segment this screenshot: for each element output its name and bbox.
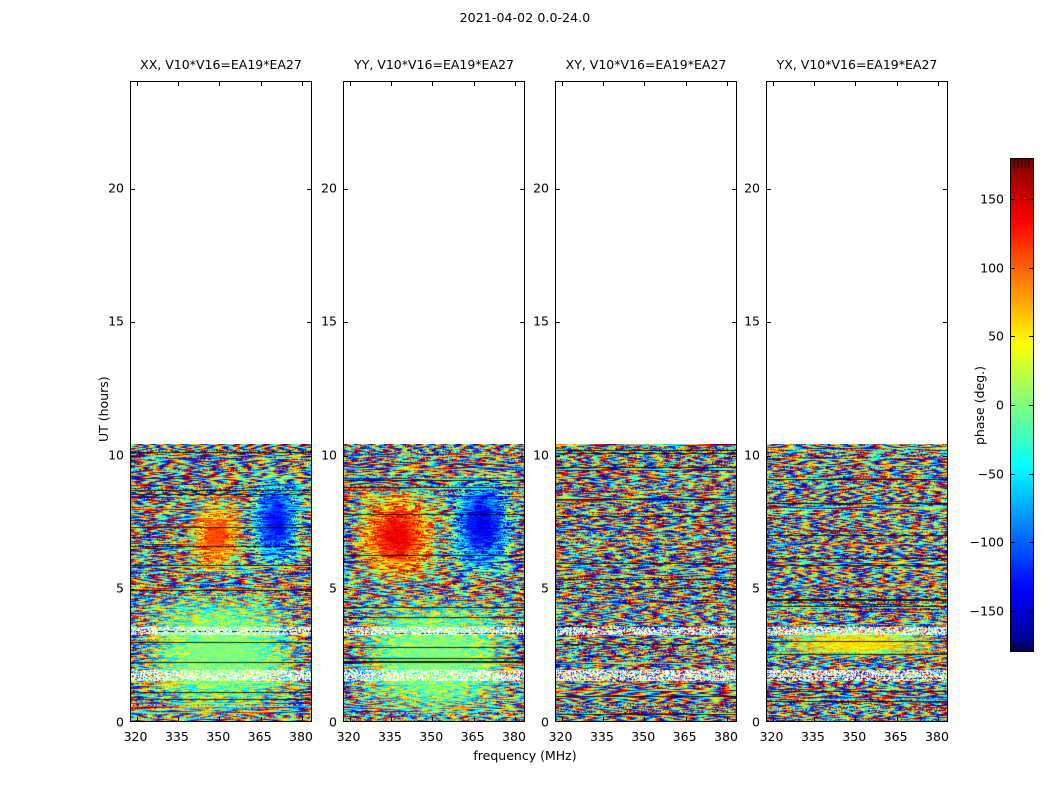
panel-title-xy: XY, V10*V16=EA19*EA27: [566, 57, 727, 72]
x-tick-top: [137, 82, 138, 86]
y-tick: [131, 189, 135, 190]
colorbar-tick: [1010, 474, 1015, 475]
x-tick-label: 335: [590, 729, 614, 744]
colorbar-tick: [1010, 268, 1015, 269]
panel-axes-xx: [130, 81, 312, 722]
y-tick: [344, 322, 348, 323]
x-tick-label: 380: [289, 729, 313, 744]
y-tick-label: 0: [309, 715, 337, 730]
x-tick: [686, 717, 687, 721]
x-tick-label: 380: [714, 729, 738, 744]
x-tick: [897, 717, 898, 721]
y-tick: [344, 189, 348, 190]
x-tick-label: 320: [337, 729, 361, 744]
x-tick-label: 350: [206, 729, 230, 744]
x-tick-label: 320: [760, 729, 784, 744]
x-tick-label: 365: [673, 729, 697, 744]
panel-title-yx: YX, V10*V16=EA19*EA27: [777, 57, 938, 72]
x-tick: [137, 717, 138, 721]
y-tick-label: 20: [96, 180, 124, 195]
y-tick-label: 20: [732, 180, 760, 195]
y-tick-label: 0: [732, 715, 760, 730]
colorbar-tick: [1010, 542, 1015, 543]
y-tick: [767, 456, 771, 457]
y-tick-label: 5: [96, 581, 124, 596]
y-tick-label: 0: [96, 715, 124, 730]
y-axis-label: UT (hours): [96, 376, 111, 442]
x-tick-label: 350: [842, 729, 866, 744]
x-tick: [603, 717, 604, 721]
y-tick-label: 15: [732, 314, 760, 329]
y-tick-label: 10: [521, 447, 549, 462]
x-tick-label: 350: [631, 729, 655, 744]
y-tick: [131, 589, 135, 590]
x-tick-top: [261, 82, 262, 86]
y-tick-label: 10: [309, 447, 337, 462]
x-tick: [178, 717, 179, 721]
panel-xy: XY, V10*V16=EA19*EA27: [555, 81, 737, 722]
x-tick-label: 335: [378, 729, 402, 744]
y-tick-right: [943, 189, 947, 190]
panel-yy: YY, V10*V16=EA19*EA27: [343, 81, 525, 722]
y-tick-label: 0: [521, 715, 549, 730]
figure-canvas: 2021-04-02 0.0-24.0 XX, V10*V16=EA19*EA2…: [0, 0, 1050, 800]
x-tick: [432, 717, 433, 721]
x-axis-label: frequency (MHz): [0, 748, 1050, 763]
colorbar-tick: [1010, 405, 1015, 406]
colorbar-tick-right: [1029, 268, 1034, 269]
panel-title-xx: XX, V10*V16=EA19*EA27: [140, 57, 302, 72]
panel-title-yy: YY, V10*V16=EA19*EA27: [354, 57, 514, 72]
panel-axes-yy: [343, 81, 525, 722]
y-tick-label: 20: [309, 180, 337, 195]
panel-xx: XX, V10*V16=EA19*EA27: [130, 81, 312, 722]
x-tick: [562, 717, 563, 721]
x-tick: [855, 717, 856, 721]
colorbar-tick: [1010, 336, 1015, 337]
x-tick-top: [474, 82, 475, 86]
colorbar-tick-right: [1029, 474, 1034, 475]
x-tick: [474, 717, 475, 721]
heatmap-xy: [556, 444, 736, 722]
x-tick-top: [897, 82, 898, 86]
y-tick-label: 20: [521, 180, 549, 195]
x-tick-label: 320: [549, 729, 573, 744]
x-tick: [773, 717, 774, 721]
heatmap-yx: [767, 444, 947, 722]
x-tick-top: [727, 82, 728, 86]
colorbar-label: phase (deg.): [972, 366, 987, 445]
x-tick-top: [350, 82, 351, 86]
colorbar-tick-label: −100: [968, 535, 1004, 550]
panel-axes-xy: [555, 81, 737, 722]
y-tick: [344, 589, 348, 590]
y-tick-label: 10: [732, 447, 760, 462]
x-tick-top: [302, 82, 303, 86]
y-tick: [131, 456, 135, 457]
colorbar-tick: [1010, 611, 1015, 612]
y-tick: [131, 322, 135, 323]
x-tick: [814, 717, 815, 721]
x-tick-label: 365: [461, 729, 485, 744]
y-tick: [556, 589, 560, 590]
x-tick-top: [391, 82, 392, 86]
y-tick-right: [943, 456, 947, 457]
x-tick: [391, 717, 392, 721]
colorbar-tick-label: 100: [968, 260, 1004, 275]
colorbar-tick-label: 50: [968, 329, 1004, 344]
colorbar-tick-right: [1029, 542, 1034, 543]
x-tick-top: [432, 82, 433, 86]
x-tick-top: [178, 82, 179, 86]
colorbar-tick-right: [1029, 336, 1034, 337]
x-tick-label: 335: [165, 729, 189, 744]
y-tick: [344, 456, 348, 457]
x-tick: [302, 717, 303, 721]
colorbar-tick-label: 150: [968, 192, 1004, 207]
x-tick-top: [219, 82, 220, 86]
x-tick-label: 365: [248, 729, 272, 744]
figure-suptitle: 2021-04-02 0.0-24.0: [0, 10, 1050, 25]
y-tick-label: 15: [309, 314, 337, 329]
x-tick-label: 365: [884, 729, 908, 744]
panel-axes-yx: [766, 81, 948, 722]
x-tick: [515, 717, 516, 721]
x-tick: [261, 717, 262, 721]
heatmap-xx: [131, 444, 311, 722]
panel-yx: YX, V10*V16=EA19*EA27: [766, 81, 948, 722]
x-tick-top: [603, 82, 604, 86]
x-tick: [219, 717, 220, 721]
y-tick-right: [943, 322, 947, 323]
x-tick-top: [773, 82, 774, 86]
x-tick-top: [686, 82, 687, 86]
x-tick-top: [562, 82, 563, 86]
x-tick: [938, 717, 939, 721]
x-tick: [644, 717, 645, 721]
x-tick-top: [855, 82, 856, 86]
y-tick-label: 5: [309, 581, 337, 596]
y-tick-label: 10: [96, 447, 124, 462]
heatmap-yy: [344, 444, 524, 722]
y-tick-right: [943, 589, 947, 590]
x-tick-label: 320: [124, 729, 148, 744]
y-tick: [556, 189, 560, 190]
colorbar-tick-right: [1029, 405, 1034, 406]
x-tick-label: 380: [925, 729, 949, 744]
colorbar-tick-right: [1029, 611, 1034, 612]
y-tick-label: 15: [521, 314, 549, 329]
y-tick: [767, 589, 771, 590]
x-tick-label: 335: [801, 729, 825, 744]
y-tick: [767, 322, 771, 323]
colorbar-tick-label: −150: [968, 603, 1004, 618]
x-tick-top: [814, 82, 815, 86]
x-tick-label: 350: [419, 729, 443, 744]
colorbar-tick: [1010, 199, 1015, 200]
x-tick-label: 380: [502, 729, 526, 744]
y-tick-label: 15: [96, 314, 124, 329]
y-tick-label: 5: [732, 581, 760, 596]
y-tick: [556, 322, 560, 323]
y-tick: [556, 456, 560, 457]
colorbar-tick-label: −50: [968, 466, 1004, 481]
x-tick: [727, 717, 728, 721]
x-tick-top: [515, 82, 516, 86]
colorbar-tick-right: [1029, 199, 1034, 200]
y-tick-label: 5: [521, 581, 549, 596]
x-tick-top: [938, 82, 939, 86]
y-tick: [767, 189, 771, 190]
x-tick-top: [644, 82, 645, 86]
x-tick: [350, 717, 351, 721]
